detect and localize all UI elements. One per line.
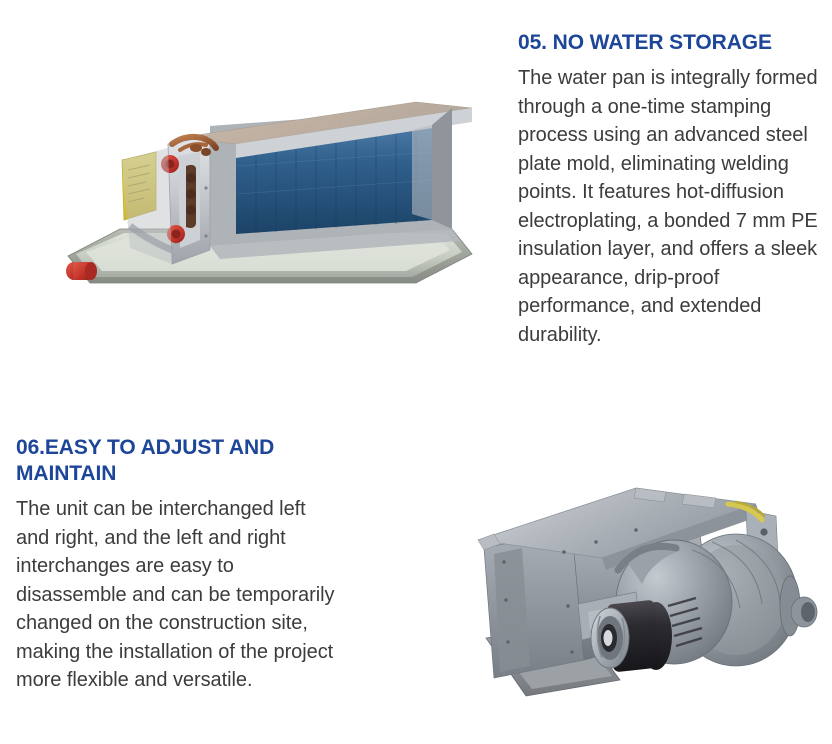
feature-05-heading: 05. NO WATER STORAGE — [518, 30, 818, 56]
drain-plug-red — [66, 262, 97, 280]
feature-06-heading: 06.EASY TO ADJUST AND MAINTAIN — [16, 435, 336, 487]
feature-section-06: 06.EASY TO ADJUST AND MAINTAIN The unit … — [0, 410, 832, 744]
feature-05-text-column: 05. NO WATER STORAGE The water pan is in… — [518, 30, 818, 349]
product-feature-page: 05. NO WATER STORAGE The water pan is in… — [0, 0, 832, 744]
unit-casing-group — [178, 102, 472, 246]
feature-06-text-column: 06.EASY TO ADJUST AND MAINTAIN The unit … — [16, 435, 336, 695]
feature-section-05: 05. NO WATER STORAGE The water pan is in… — [0, 0, 832, 410]
outlet-elbow — [791, 597, 817, 627]
blower-motor-assembly-photo — [460, 430, 832, 710]
fan-coil-unit-with-water-pan-photo — [60, 78, 480, 308]
feature-05-image-container — [60, 78, 480, 308]
feature-06-image-container — [460, 430, 832, 710]
feature-05-body: The water pan is integrally formed throu… — [518, 64, 818, 349]
feature-06-body: The unit can be interchanged left and ri… — [16, 495, 336, 695]
motor-end-bracket — [591, 608, 629, 668]
